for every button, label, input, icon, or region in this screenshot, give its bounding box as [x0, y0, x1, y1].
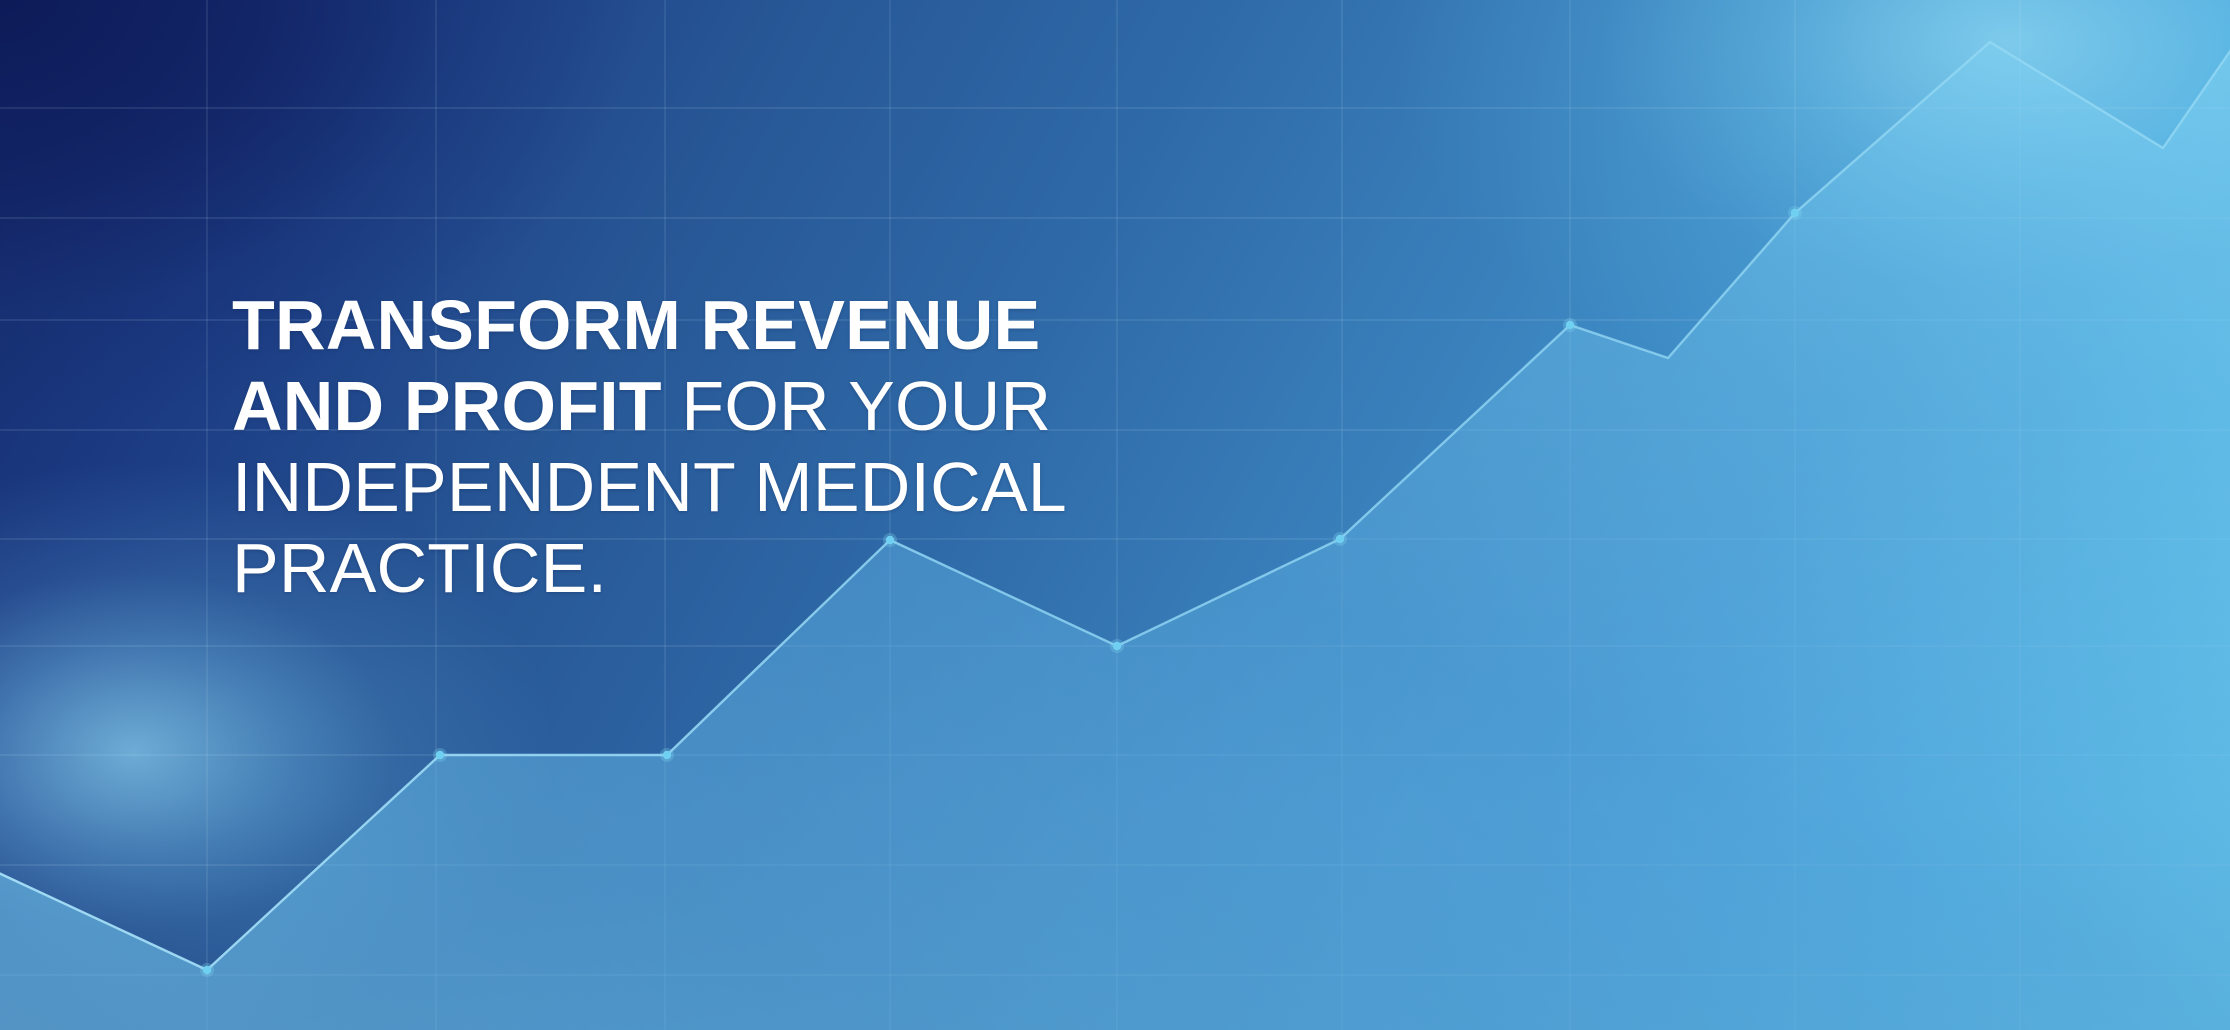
page-title: TRANSFORM REVENUE AND PROFIT FOR YOUR IN… [232, 285, 1132, 609]
data-point-marker [203, 966, 211, 974]
hero-banner: TRANSFORM REVENUE AND PROFIT FOR YOUR IN… [0, 0, 2230, 1030]
data-point-marker [663, 751, 671, 759]
data-point-marker [1566, 321, 1574, 329]
data-point-marker [1113, 642, 1121, 650]
data-point-marker [1791, 209, 1799, 217]
data-point-marker [436, 751, 444, 759]
data-point-marker [1336, 535, 1344, 543]
